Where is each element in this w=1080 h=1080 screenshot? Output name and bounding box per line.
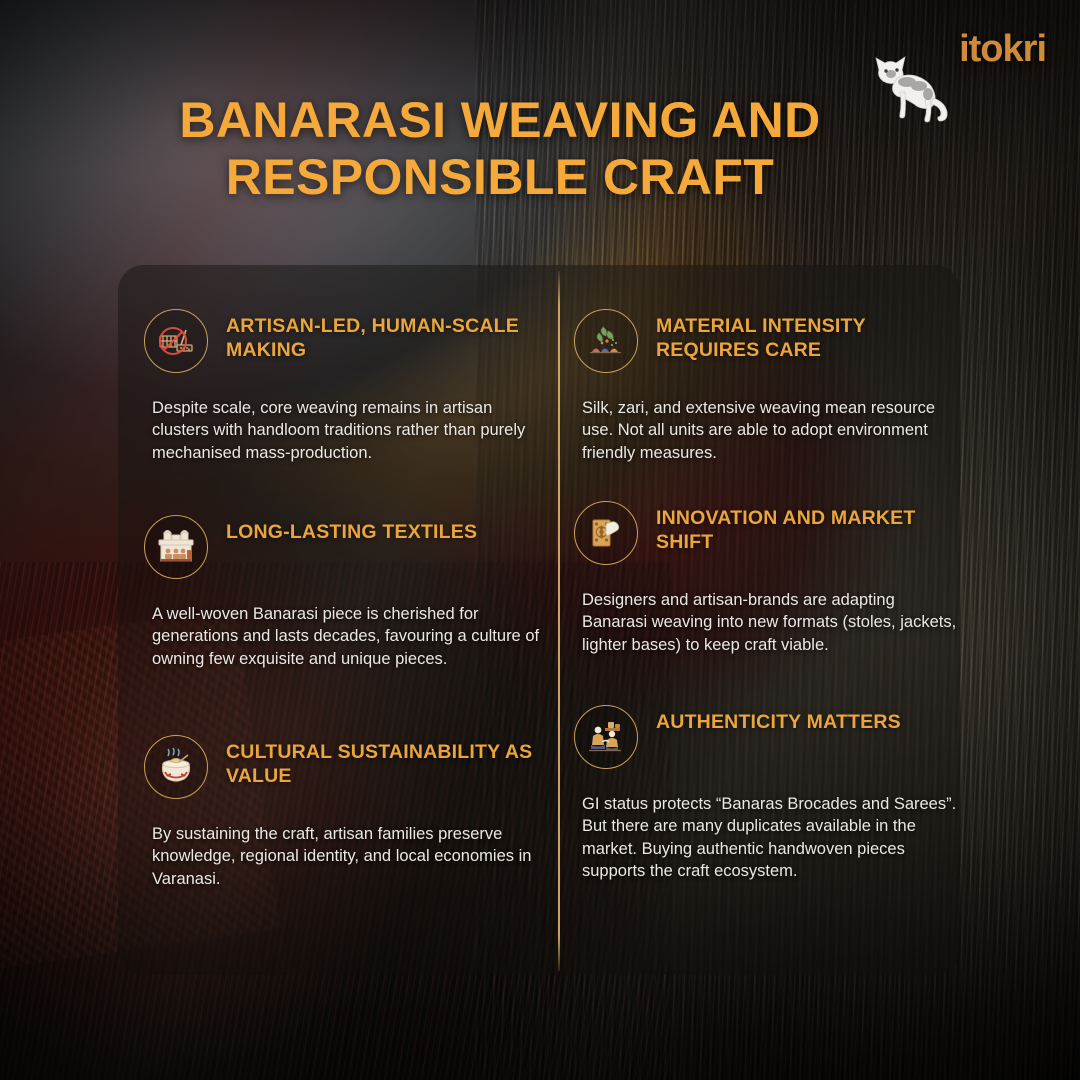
feature-item-long-lasting: LONG-LASTING TEXTILES A well-woven Banar… (144, 515, 548, 670)
feature-header: CULTURAL SUSTAINABILITY AS VALUE (144, 735, 548, 799)
feature-item-material-intensity: MATERIAL INTENSITY REQUIRES CARE Silk, z… (574, 309, 964, 464)
header: BANARASI WEAVING AND RESPONSIBLE CRAFT (0, 0, 1080, 250)
feature-body: GI status protects “Banaras Brocades and… (582, 793, 964, 882)
page-title: BANARASI WEAVING AND RESPONSIBLE CRAFT (60, 92, 940, 206)
feature-item-artisan-led: ARTISAN-LED, HUMAN-SCALE MAKING Despite … (144, 309, 548, 464)
page-title-line-1: BANARASI WEAVING AND (60, 92, 940, 149)
feature-title: LONG-LASTING TEXTILES (226, 515, 477, 545)
feature-header: INNOVATION AND MARKET SHIFT (574, 501, 964, 565)
shop-building-icon (144, 515, 208, 579)
feature-title: INNOVATION AND MARKET SHIFT (656, 501, 964, 555)
feature-header: AUTHENTICITY MATTERS (574, 705, 964, 769)
hand-holding-fabric-icon (574, 501, 638, 565)
feature-body: By sustaining the craft, artisan familie… (152, 823, 548, 890)
feature-item-cultural-sustainability: CULTURAL SUSTAINABILITY AS VALUE By sust… (144, 735, 548, 890)
feature-title: CULTURAL SUSTAINABILITY AS VALUE (226, 735, 548, 789)
column-divider (558, 271, 560, 971)
two-seated-artisans-icon (574, 705, 638, 769)
feature-header: MATERIAL INTENSITY REQUIRES CARE (574, 309, 964, 373)
feature-title: MATERIAL INTENSITY REQUIRES CARE (656, 309, 964, 363)
feature-header: LONG-LASTING TEXTILES (144, 515, 548, 579)
cat-icon (867, 48, 949, 124)
feature-title: AUTHENTICITY MATTERS (656, 705, 901, 735)
feature-title: ARTISAN-LED, HUMAN-SCALE MAKING (226, 309, 548, 363)
page-title-line-2: RESPONSIBLE CRAFT (60, 149, 940, 206)
brand-name: itokri (959, 30, 1046, 68)
feature-item-innovation: INNOVATION AND MARKET SHIFT Designers an… (574, 501, 964, 656)
feature-body: Silk, zari, and extensive weaving mean r… (582, 397, 964, 464)
feature-body: Designers and artisan-brands are adaptin… (582, 589, 964, 656)
feature-header: ARTISAN-LED, HUMAN-SCALE MAKING (144, 309, 548, 373)
feature-body: A well-woven Banarasi piece is cherished… (152, 603, 548, 670)
no-machine-loom-icon (144, 309, 208, 373)
leaves-and-dye-powder-icon (574, 309, 638, 373)
brand-logo[interactable]: itokri (867, 30, 1046, 124)
content-card: ARTISAN-LED, HUMAN-SCALE MAKING Despite … (118, 265, 960, 975)
feature-body: Despite scale, core weaving remains in a… (152, 397, 548, 464)
feature-item-authenticity: AUTHENTICITY MATTERS GI status protects … (574, 705, 964, 882)
steaming-pot-icon (144, 735, 208, 799)
